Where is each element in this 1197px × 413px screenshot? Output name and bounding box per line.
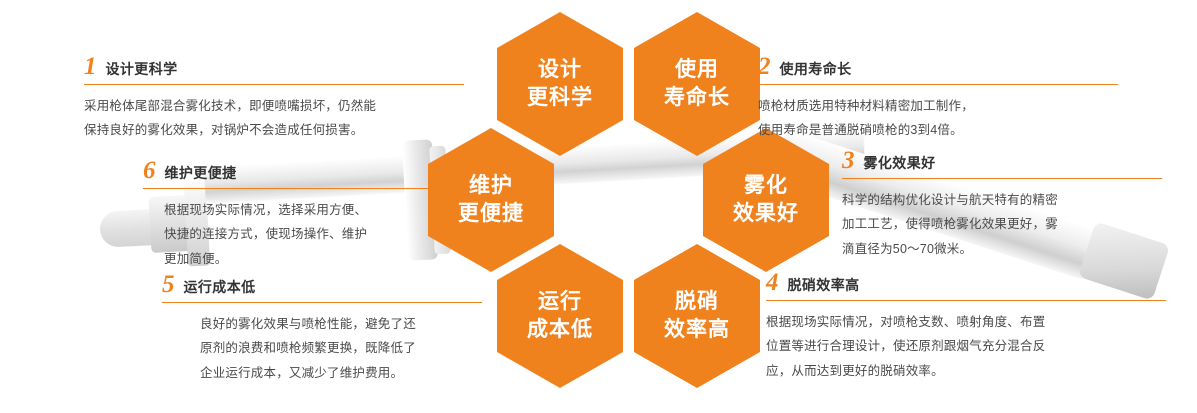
feature-6-heading: 6 维护更便捷 (143, 158, 433, 189)
feature-block-1: 1 设计更科学 采用枪体尾部混合雾化技术，即便喷嘴损坏，仍然能 保持良好的雾化效… (84, 54, 464, 143)
feature-block-6: 6 维护更便捷 根据现场实际情况，选择采用方便、 快捷的连接方式，使现场操作、维… (143, 158, 433, 271)
feature-6-line-2: 快捷的连接方式，使现场操作、维护 (164, 222, 433, 246)
feature-3-line-1: 科学的结构优化设计与航天特有的精密 (842, 188, 1162, 212)
feature-6-line-1: 根据现场实际情况，选择采用方便、 (164, 198, 433, 222)
feature-block-5: 5 运行成本低 良好的雾化效果与喷枪性能，避免了还 原剂的浪费和喷枪频繁更换，既… (162, 272, 482, 385)
feature-2-line-2: 使用寿命是普通脱硝喷枪的3到4倍。 (758, 118, 1118, 142)
feature-6-body: 根据现场实际情况，选择采用方便、 快捷的连接方式，使现场操作、维护 更加简便。 (143, 198, 433, 271)
feature-block-3: 3 雾化效果好 科学的结构优化设计与航天特有的精密 加工工艺，使得喷枪雾化效果更… (842, 148, 1162, 261)
feature-1-title: 设计更科学 (106, 62, 178, 76)
feature-4-body: 根据现场实际情况，对喷枪支数、喷射角度、布置 位置等进行合理设计，使还原剂跟烟气… (766, 310, 1166, 383)
feature-2-number: 2 (758, 54, 771, 79)
hex-lifespan-line2: 寿命长 (664, 84, 730, 112)
hex-maintenance: 维护 更便捷 (428, 128, 554, 272)
feature-block-4: 4 脱硝效率高 根据现场实际情况，对喷枪支数、喷射角度、布置 位置等进行合理设计… (766, 270, 1166, 383)
feature-5-heading: 5 运行成本低 (162, 272, 482, 303)
feature-4-title: 脱硝效率高 (788, 278, 860, 292)
diagram-canvas: 设计 更科学 使用 寿命长 维护 更便捷 雾化 效果好 运行 成本低 脱硝 效率… (0, 0, 1197, 413)
hex-denitration-line2: 效率高 (664, 316, 730, 344)
hex-denitration: 脱硝 效率高 (634, 244, 760, 388)
feature-3-line-3: 滴直径为50～70微米。 (842, 237, 1162, 261)
feature-4-heading: 4 脱硝效率高 (766, 270, 1166, 301)
feature-3-heading: 3 雾化效果好 (842, 148, 1162, 179)
feature-5-number: 5 (162, 272, 175, 297)
feature-6-line-3: 更加简便。 (164, 247, 433, 271)
feature-5-line-2: 原剂的浪费和喷枪频繁更换，既降低了 (200, 336, 482, 360)
feature-2-heading: 2 使用寿命长 (758, 54, 1118, 85)
hex-denitration-line1: 脱硝 (675, 288, 719, 316)
hex-lifespan-line1: 使用 (675, 56, 719, 84)
feature-5-line-1: 良好的雾化效果与喷枪性能，避免了还 (200, 312, 482, 336)
hex-atomization-line2: 效果好 (733, 200, 799, 228)
feature-4-number: 4 (766, 270, 779, 295)
feature-5-line-3: 企业运行成本，又减少了维护费用。 (200, 361, 482, 385)
feature-3-line-2: 加工工艺，使得喷枪雾化效果更好，雾 (842, 212, 1162, 236)
hex-atomization: 雾化 效果好 (703, 128, 829, 272)
feature-2-line-1: 喷枪材质选用特种材料精密加工制作， (758, 94, 1118, 118)
feature-1-line-2: 保持良好的雾化效果，对锅炉不会造成任何损害。 (84, 118, 464, 142)
feature-6-title: 维护更便捷 (165, 166, 237, 180)
hex-cost-line1: 运行 (538, 288, 582, 316)
hex-lifespan: 使用 寿命长 (634, 12, 760, 156)
hex-design: 设计 更科学 (497, 12, 623, 156)
feature-1-number: 1 (84, 54, 97, 79)
hex-atomization-line1: 雾化 (744, 172, 788, 200)
feature-1-line-1: 采用枪体尾部混合雾化技术，即便喷嘴损坏，仍然能 (84, 94, 464, 118)
hex-maintenance-line1: 维护 (469, 172, 513, 200)
feature-3-title: 雾化效果好 (864, 156, 936, 170)
hex-design-line1: 设计 (538, 56, 582, 84)
feature-5-title: 运行成本低 (184, 280, 256, 294)
hex-cost: 运行 成本低 (497, 244, 623, 388)
feature-4-line-3: 应，从而达到更好的脱硝效率。 (766, 359, 1166, 383)
feature-3-body: 科学的结构优化设计与航天特有的精密 加工工艺，使得喷枪雾化效果更好，雾 滴直径为… (842, 188, 1162, 261)
feature-1-heading: 1 设计更科学 (84, 54, 464, 85)
feature-2-body: 喷枪材质选用特种材料精密加工制作， 使用寿命是普通脱硝喷枪的3到4倍。 (758, 94, 1118, 143)
hex-cost-line2: 成本低 (527, 316, 593, 344)
feature-2-title: 使用寿命长 (780, 62, 852, 76)
feature-4-line-2: 位置等进行合理设计，使还原剂跟烟气充分混合反 (766, 334, 1166, 358)
feature-6-number: 6 (143, 158, 156, 183)
hex-maintenance-line2: 更便捷 (458, 200, 524, 228)
hex-design-line2: 更科学 (527, 84, 593, 112)
feature-4-line-1: 根据现场实际情况，对喷枪支数、喷射角度、布置 (766, 310, 1166, 334)
feature-5-body: 良好的雾化效果与喷枪性能，避免了还 原剂的浪费和喷枪频繁更换，既降低了 企业运行… (162, 312, 482, 385)
feature-1-body: 采用枪体尾部混合雾化技术，即便喷嘴损坏，仍然能 保持良好的雾化效果，对锅炉不会造… (84, 94, 464, 143)
feature-block-2: 2 使用寿命长 喷枪材质选用特种材料精密加工制作， 使用寿命是普通脱硝喷枪的3到… (758, 54, 1118, 143)
feature-3-number: 3 (842, 148, 855, 173)
